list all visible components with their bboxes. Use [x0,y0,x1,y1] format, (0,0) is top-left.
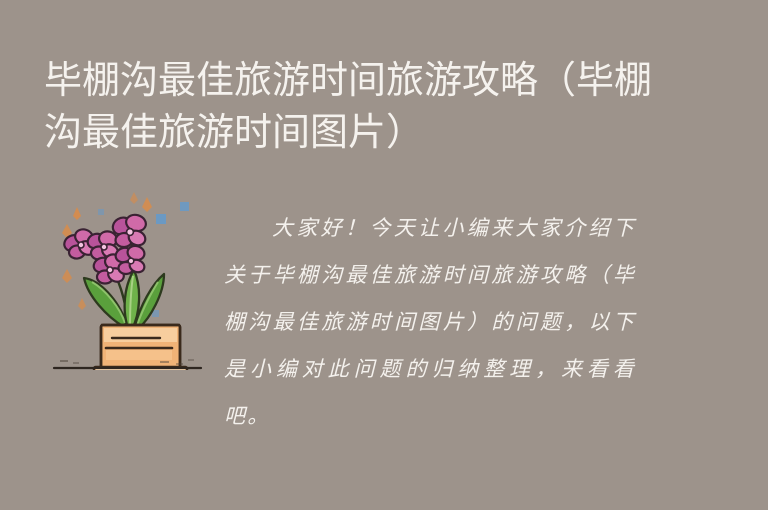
article-card: 毕棚沟最佳旅游时间旅游攻略（毕棚沟最佳旅游时间图片） [0,0,768,510]
potted-orchid-illustration [40,192,215,370]
article-body: 大家好！今天让小编来大家介绍下关于毕棚沟最佳旅游时间旅游攻略（毕棚沟最佳旅游时间… [224,205,636,440]
flower-pot [101,325,180,370]
page-title: 毕棚沟最佳旅游时间旅游攻略（毕棚沟最佳旅游时间图片） [44,55,684,159]
